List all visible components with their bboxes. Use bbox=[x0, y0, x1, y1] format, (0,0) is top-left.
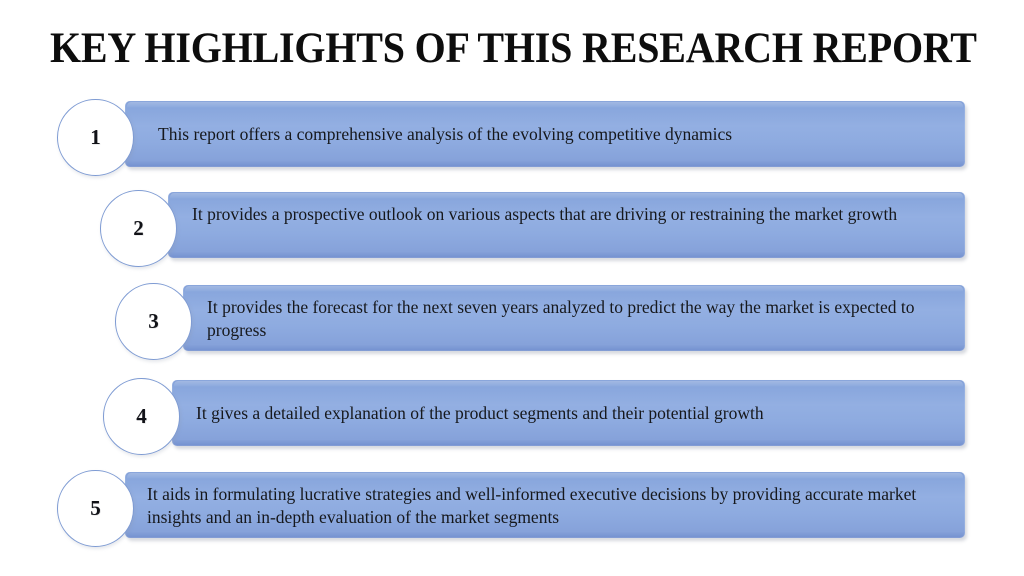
highlight-number-circle-5[interactable]: 5 bbox=[57, 470, 134, 547]
highlight-number-circle-1[interactable]: 1 bbox=[57, 99, 134, 176]
highlight-text-1: This report offers a comprehensive analy… bbox=[158, 123, 958, 146]
highlight-number-circle-4[interactable]: 4 bbox=[103, 378, 180, 455]
highlight-text-3: It provides the forecast for the next se… bbox=[207, 296, 955, 342]
highlight-number-2: 2 bbox=[133, 218, 144, 239]
highlight-number-4: 4 bbox=[136, 406, 147, 427]
highlight-text-5: It aids in formulating lucrative strateg… bbox=[147, 483, 952, 529]
highlight-number-5: 5 bbox=[90, 498, 101, 519]
highlight-number-3: 3 bbox=[148, 311, 159, 332]
slide-canvas: KEY HIGHLIGHTS OF THIS RESEARCH REPORT T… bbox=[0, 0, 1024, 576]
highlights-list: This report offers a comprehensive analy… bbox=[0, 0, 1024, 576]
highlight-number-circle-2[interactable]: 2 bbox=[100, 190, 177, 267]
highlight-text-2: It provides a prospective outlook on var… bbox=[192, 203, 954, 226]
highlight-number-1: 1 bbox=[90, 127, 101, 148]
highlight-text-4: It gives a detailed explanation of the p… bbox=[196, 402, 956, 425]
highlight-number-circle-3[interactable]: 3 bbox=[115, 283, 192, 360]
